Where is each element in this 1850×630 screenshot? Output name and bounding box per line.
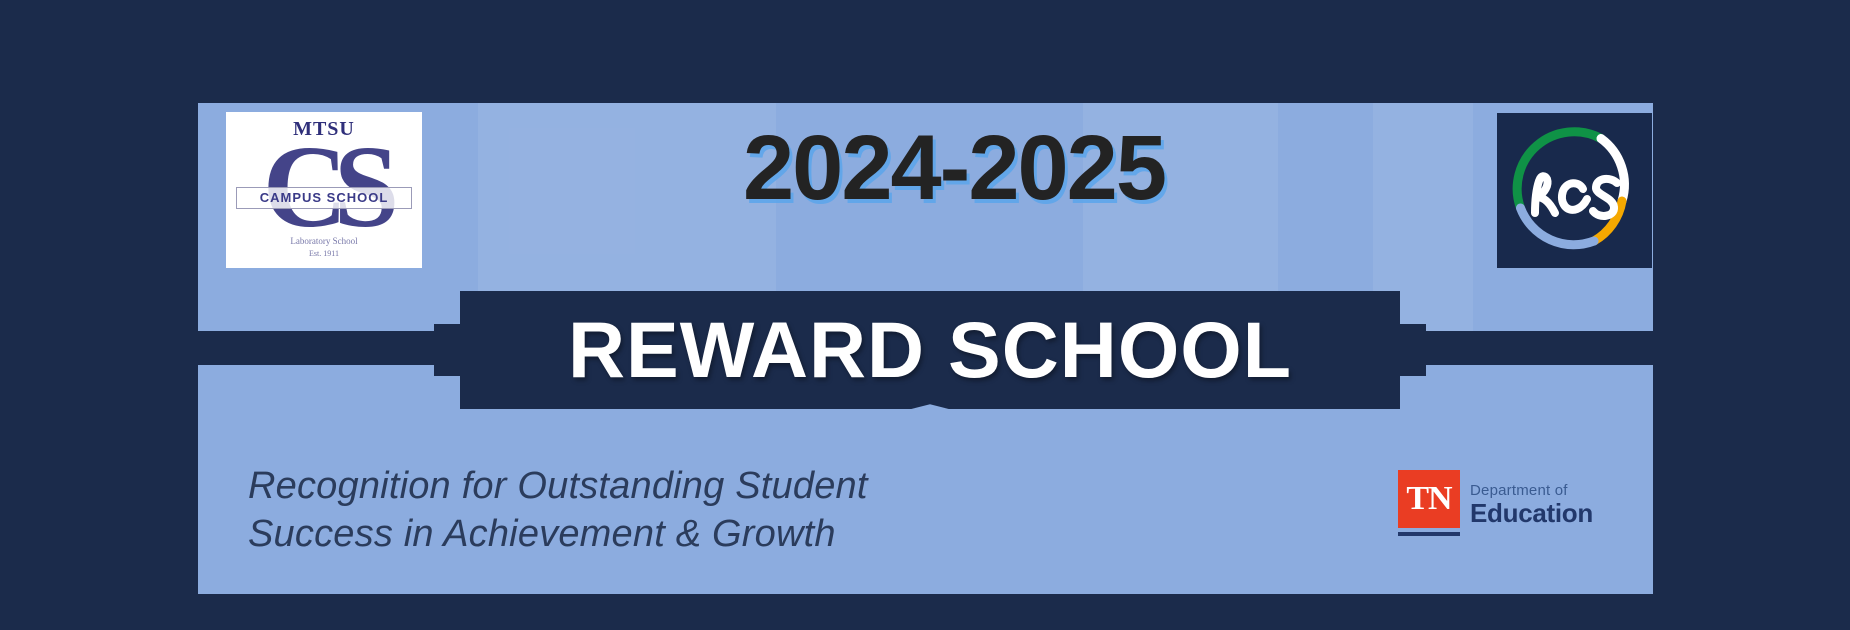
banner-graphic: MTSU CS CAMPUS SCHOOL Laboratory School … <box>0 0 1850 630</box>
cs-logo-ribbon: CAMPUS SCHOOL <box>236 187 412 209</box>
tn-department-of-education-logo: TN Department of Education <box>1398 470 1613 550</box>
mtsu-campus-school-logo: MTSU CS CAMPUS SCHOOL Laboratory School … <box>226 112 422 268</box>
banner-tab-left <box>434 324 460 376</box>
cs-logo-subtitle-line2: Est. 1911 <box>226 249 422 258</box>
cs-logo-subtitle-line1: Laboratory School <box>226 236 422 246</box>
banner-body: REWARD SCHOOL <box>460 291 1400 409</box>
rcs-logo-artwork <box>1497 113 1652 268</box>
reward-school-banner: REWARD SCHOOL <box>460 291 1400 409</box>
tn-logo-underline <box>1398 532 1460 536</box>
tn-logo-mark: TN <box>1398 470 1460 536</box>
tn-logo-square: TN <box>1398 470 1460 528</box>
tagline-text: Recognition for Outstanding Student Succ… <box>248 462 868 558</box>
banner-tab-right <box>1400 324 1426 376</box>
tn-logo-wordmark: Department of Education <box>1470 482 1593 528</box>
cs-logo-ribbon-text: CAMPUS SCHOOL <box>237 188 411 208</box>
tn-logo-state-abbr: TN <box>1406 480 1451 518</box>
tn-logo-department-line: Department of <box>1470 482 1593 499</box>
award-title-text: REWARD SCHOOL <box>568 309 1292 391</box>
tn-logo-agency-line: Education <box>1470 499 1593 528</box>
rutherford-county-schools-logo <box>1497 113 1652 268</box>
school-year-title: 2024-2025 <box>694 118 1214 218</box>
